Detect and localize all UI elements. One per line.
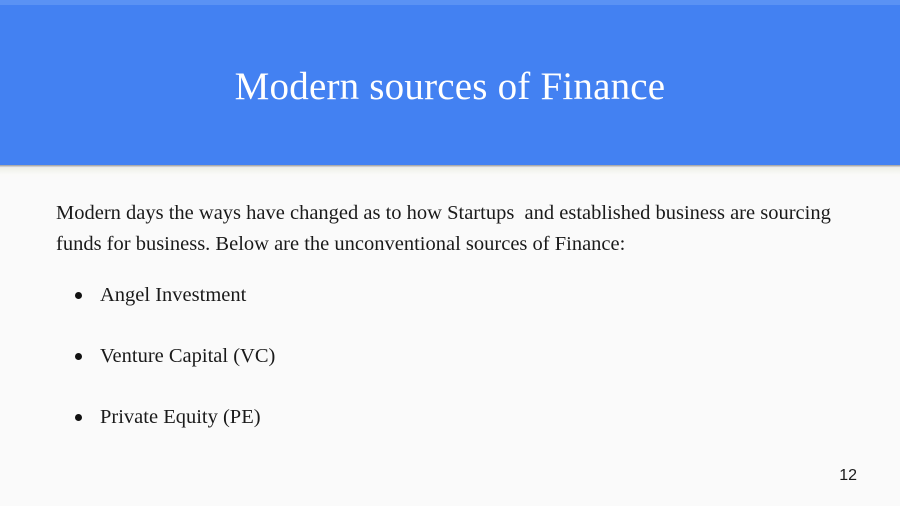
slide-title-banner: Modern sources of Finance bbox=[0, 0, 900, 165]
bullet-dot-icon bbox=[75, 414, 82, 421]
list-item-label: Venture Capital (VC) bbox=[100, 345, 275, 367]
bullet-dot-icon bbox=[75, 292, 82, 299]
list-item-label: Private Equity (PE) bbox=[100, 406, 261, 428]
slide-body: Modern days the ways have changed as to … bbox=[0, 165, 900, 506]
page-title: Modern sources of Finance bbox=[235, 59, 666, 106]
intro-paragraph: Modern days the ways have changed as to … bbox=[56, 198, 856, 260]
page-number: 12 bbox=[839, 468, 857, 484]
bullet-list: Angel Investment Venture Capital (VC) Pr… bbox=[70, 285, 860, 428]
banner-top-accent-strip bbox=[0, 0, 900, 5]
list-item: Angel Investment bbox=[70, 285, 860, 306]
list-item: Venture Capital (VC) bbox=[70, 346, 860, 367]
bullet-dot-icon bbox=[75, 353, 82, 360]
list-item: Private Equity (PE) bbox=[70, 407, 860, 428]
list-item-label: Angel Investment bbox=[100, 284, 246, 306]
presentation-slide: Modern sources of Finance Modern days th… bbox=[0, 0, 900, 506]
